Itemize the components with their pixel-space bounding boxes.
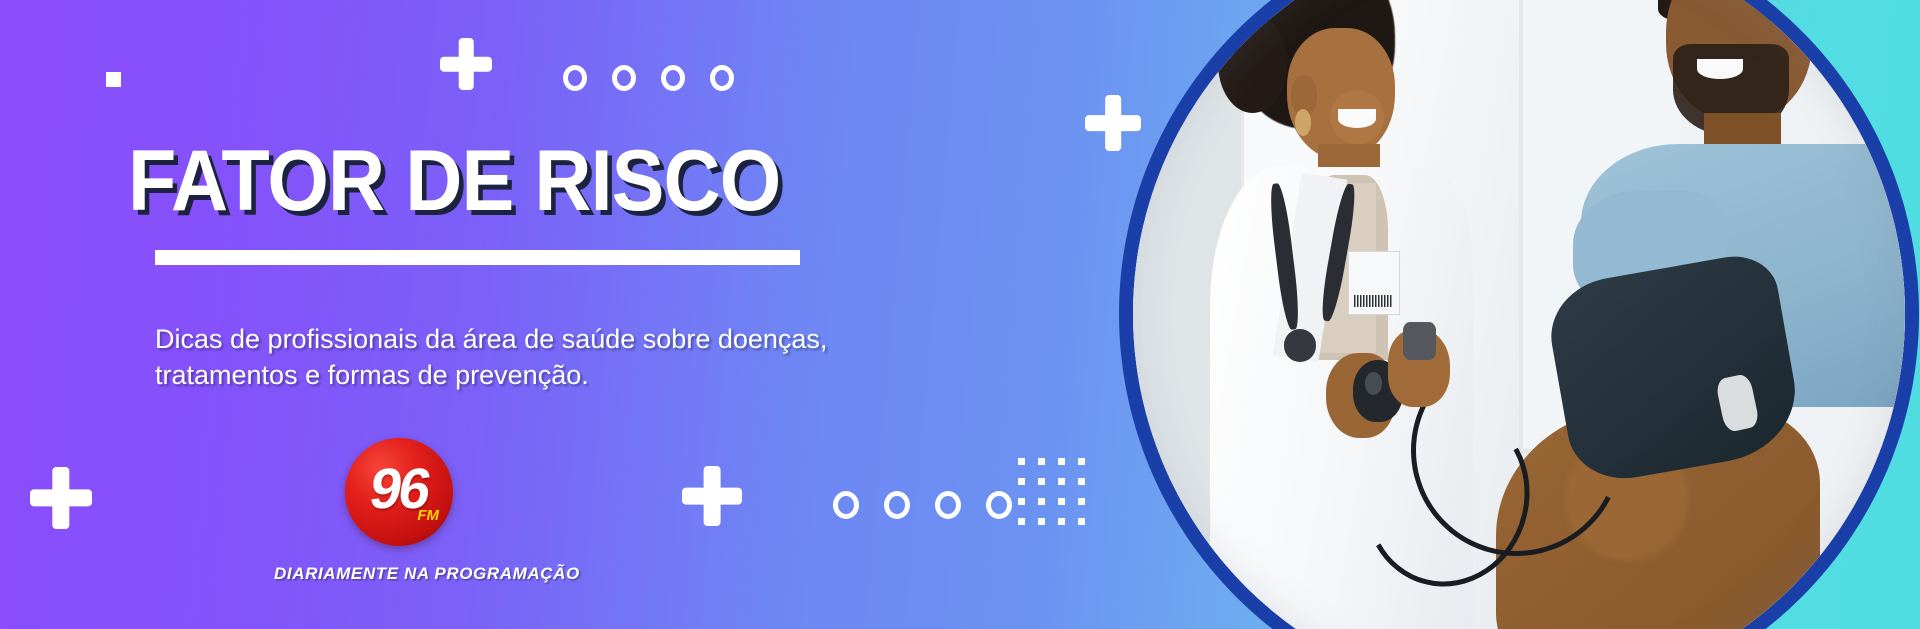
- text-content: FATOR DE RISCO Dicas de profissionais da…: [0, 0, 960, 629]
- banner: FATOR DE RISCO Dicas de profissionais da…: [0, 0, 1920, 629]
- pressure-gauge: [1403, 322, 1435, 361]
- ring-icon: [986, 491, 1012, 519]
- station-logo[interactable]: 96 FM DIARIAMENTE NA PROGRAMAÇÃO: [274, 438, 524, 584]
- page-title: FATOR DE RISCO: [128, 138, 780, 224]
- doctor-smile: [1338, 109, 1377, 128]
- title-underline: [155, 250, 800, 265]
- logo-number: 96: [340, 461, 457, 518]
- subtitle: Dicas de profissionais da área de saúde …: [155, 322, 855, 393]
- photo-image: [1133, 0, 1905, 629]
- logo-tagline: DIARIAMENTE NA PROGRAMAÇÃO: [274, 564, 524, 584]
- logo-disc: 96 FM: [345, 438, 453, 546]
- dot-grid-pattern: [1018, 458, 1085, 525]
- doctor-earring: [1295, 109, 1311, 135]
- logo-fm-label: FM: [417, 508, 439, 523]
- doctor-hair-side: [1218, 13, 1287, 113]
- clinic-scene: [1133, 0, 1905, 629]
- photo-circle-frame: [1119, 0, 1919, 629]
- stethoscope-chestpiece: [1284, 329, 1316, 361]
- badge-barcode: [1354, 295, 1393, 307]
